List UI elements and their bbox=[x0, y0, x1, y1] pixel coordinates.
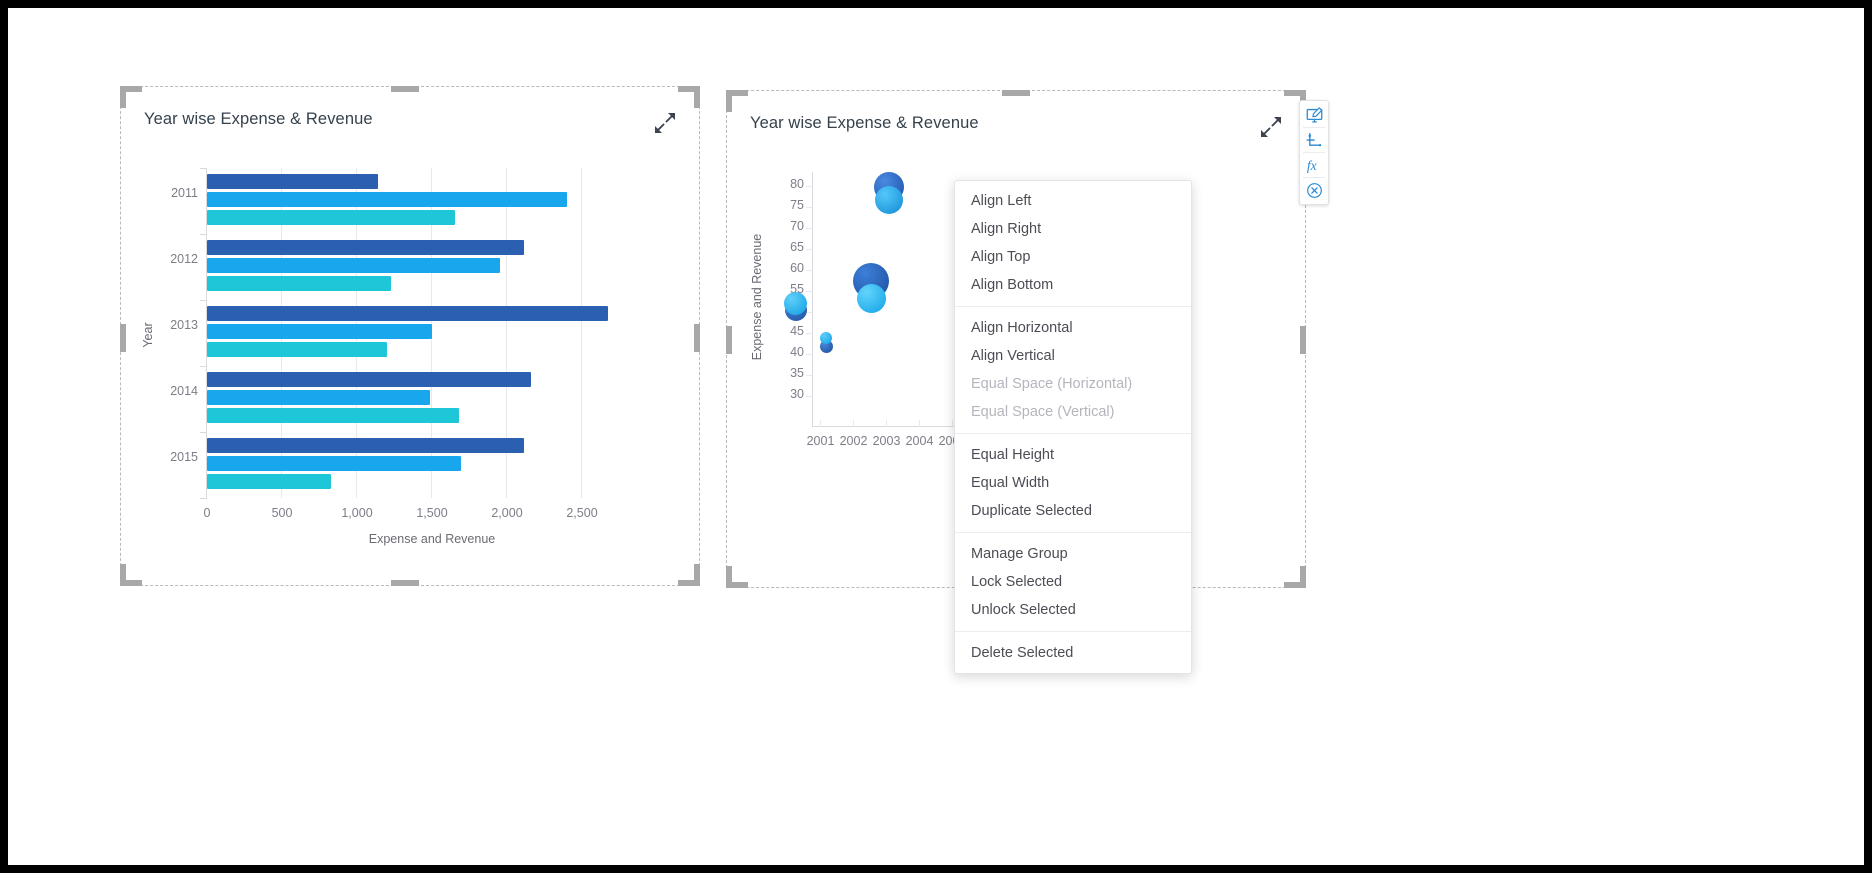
selection-handle-left-mr[interactable] bbox=[694, 324, 700, 352]
menu-item-delete-selected[interactable]: Delete Selected bbox=[955, 639, 1191, 667]
bar-xtick-label: 2,500 bbox=[557, 506, 607, 520]
bar-ytick-label: 2013 bbox=[154, 318, 198, 332]
bubble-ytick-mark bbox=[806, 228, 813, 229]
bar-cat-tick bbox=[200, 498, 207, 499]
bubble-ytick-label: 45 bbox=[768, 324, 804, 338]
bar-chart-plot: 2011 2012 2013 2014 2015 0 500 1, bbox=[126, 92, 694, 580]
bubble-xtick-mark bbox=[853, 420, 854, 427]
bubble-xtick-mark bbox=[886, 420, 887, 427]
bubble-ytick-label: 35 bbox=[768, 366, 804, 380]
bar-2011-s1[interactable] bbox=[207, 192, 567, 207]
bar-cat-tick bbox=[200, 366, 207, 367]
bar-yaxis-title: Year bbox=[141, 305, 155, 365]
designer-canvas[interactable]: Year wise Expense & Revenue bbox=[8, 8, 1864, 865]
bar-2012-s2[interactable] bbox=[207, 276, 391, 291]
bubble-ytick-mark bbox=[806, 333, 813, 334]
bar-xtick-label: 2,000 bbox=[482, 506, 532, 520]
bar-2015-s0[interactable] bbox=[207, 438, 524, 453]
bubble-ytick-mark bbox=[806, 207, 813, 208]
bubble-ytick-mark bbox=[806, 312, 813, 313]
bar-2015-s1[interactable] bbox=[207, 456, 461, 471]
bubble-ytick-mark bbox=[806, 186, 813, 187]
bar-xtick-label: 1,000 bbox=[332, 506, 382, 520]
context-menu-group: Delete Selected bbox=[955, 639, 1191, 667]
bar-gridline bbox=[581, 168, 582, 498]
bar-2012-s0[interactable] bbox=[207, 240, 524, 255]
bubble-ytick-label: 75 bbox=[768, 198, 804, 212]
bar-ytick-label: 2011 bbox=[154, 186, 198, 200]
bubble-ytick-mark bbox=[806, 354, 813, 355]
bubble-ytick-label: 30 bbox=[768, 387, 804, 401]
bubble-ytick-mark bbox=[806, 270, 813, 271]
menu-item-lock-selected[interactable]: Lock Selected bbox=[955, 568, 1191, 596]
selection-handle-left-tr-v[interactable] bbox=[694, 86, 700, 108]
bar-cat-tick bbox=[200, 432, 207, 433]
bar-2014-s0[interactable] bbox=[207, 372, 531, 387]
bubble-xtick-mark bbox=[919, 420, 920, 427]
menu-item-align-right[interactable]: Align Right bbox=[955, 215, 1191, 243]
menu-item-equal-space-vertical: Equal Space (Vertical) bbox=[955, 398, 1191, 426]
context-menu[interactable]: Align Left Align Right Align Top Align B… bbox=[954, 180, 1192, 674]
menu-item-align-bottom[interactable]: Align Bottom bbox=[955, 271, 1191, 299]
bar-2013-s2[interactable] bbox=[207, 342, 387, 357]
bar-xaxis-title: Expense and Revenue bbox=[207, 532, 657, 546]
menu-item-align-top[interactable]: Align Top bbox=[955, 243, 1191, 271]
bubble-point[interactable] bbox=[857, 284, 886, 313]
selection-handle-left-bm[interactable] bbox=[391, 580, 419, 586]
selection-handle-right-br-v[interactable] bbox=[1300, 566, 1306, 588]
selection-handle-left-br-v[interactable] bbox=[694, 564, 700, 586]
bar-cat-tick bbox=[200, 168, 207, 169]
bar-cat-tick bbox=[200, 300, 207, 301]
bar-ytick-label: 2014 bbox=[154, 384, 198, 398]
bubble-ytick-mark bbox=[806, 375, 813, 376]
menu-item-align-vertical[interactable]: Align Vertical bbox=[955, 342, 1191, 370]
bubble-ytick-label: 40 bbox=[768, 345, 804, 359]
bar-2011-s0[interactable] bbox=[207, 174, 378, 189]
bar-2013-s1[interactable] bbox=[207, 324, 432, 339]
menu-item-duplicate-selected[interactable]: Duplicate Selected bbox=[955, 497, 1191, 525]
bubble-ytick-label: 65 bbox=[768, 240, 804, 254]
fx-icon[interactable]: fx bbox=[1301, 153, 1327, 177]
menu-divider bbox=[955, 306, 1191, 307]
widget-toolbar[interactable]: fx bbox=[1299, 100, 1329, 205]
bar-xtick-label: 1,500 bbox=[407, 506, 457, 520]
menu-divider bbox=[955, 433, 1191, 434]
context-menu-group: Align Left Align Right Align Top Align B… bbox=[955, 187, 1191, 299]
bar-2011-s2[interactable] bbox=[207, 210, 455, 225]
bubble-point[interactable] bbox=[820, 332, 832, 344]
context-menu-group: Equal Height Equal Width Duplicate Selec… bbox=[955, 441, 1191, 525]
bar-2015-s2[interactable] bbox=[207, 474, 331, 489]
bar-ytick-label: 2015 bbox=[154, 450, 198, 464]
menu-item-align-horizontal[interactable]: Align Horizontal bbox=[955, 314, 1191, 342]
bar-2014-s2[interactable] bbox=[207, 408, 459, 423]
context-menu-group: Manage Group Lock Selected Unlock Select… bbox=[955, 540, 1191, 624]
bubble-point[interactable] bbox=[875, 186, 903, 214]
bar-2012-s1[interactable] bbox=[207, 258, 500, 273]
bar-cat-tick bbox=[200, 234, 207, 235]
bubble-ytick-label: 80 bbox=[768, 177, 804, 191]
bubble-ytick-label: 60 bbox=[768, 261, 804, 275]
bubble-ytick-mark bbox=[806, 291, 813, 292]
context-menu-group: Align Horizontal Align Vertical Equal Sp… bbox=[955, 314, 1191, 426]
bar-2013-s0[interactable] bbox=[207, 306, 608, 321]
screen-edit-icon[interactable] bbox=[1301, 103, 1327, 127]
bubble-ytick-mark bbox=[806, 249, 813, 250]
menu-item-equal-space-horizontal: Equal Space (Horizontal) bbox=[955, 370, 1191, 398]
bubble-yaxis-title: Expense and Revenue bbox=[750, 227, 764, 367]
bar-xtick-label: 500 bbox=[257, 506, 307, 520]
axis-icon[interactable] bbox=[1301, 128, 1327, 152]
bubble-axis-y-line bbox=[812, 172, 813, 426]
bar-ytick-label: 2012 bbox=[154, 252, 198, 266]
menu-item-manage-group[interactable]: Manage Group bbox=[955, 540, 1191, 568]
bubble-ytick-mark bbox=[806, 396, 813, 397]
menu-item-align-left[interactable]: Align Left bbox=[955, 187, 1191, 215]
selection-handle-right-mr[interactable] bbox=[1300, 326, 1306, 354]
menu-divider bbox=[955, 631, 1191, 632]
menu-item-equal-height[interactable]: Equal Height bbox=[955, 441, 1191, 469]
menu-item-equal-width[interactable]: Equal Width bbox=[955, 469, 1191, 497]
svg-text:fx: fx bbox=[1306, 157, 1316, 172]
widget-bar-chart[interactable]: Year wise Expense & Revenue bbox=[126, 92, 694, 580]
menu-divider bbox=[955, 532, 1191, 533]
bubble-point[interactable] bbox=[784, 292, 807, 315]
bar-2014-s1[interactable] bbox=[207, 390, 430, 405]
bubble-ytick-label: 70 bbox=[768, 219, 804, 233]
menu-item-unlock-selected[interactable]: Unlock Selected bbox=[955, 596, 1191, 624]
bar-xtick-label: 0 bbox=[182, 506, 232, 520]
bubble-xtick-mark bbox=[952, 420, 953, 427]
bubble-xtick-mark bbox=[820, 420, 821, 427]
close-circle-icon[interactable] bbox=[1301, 178, 1327, 202]
